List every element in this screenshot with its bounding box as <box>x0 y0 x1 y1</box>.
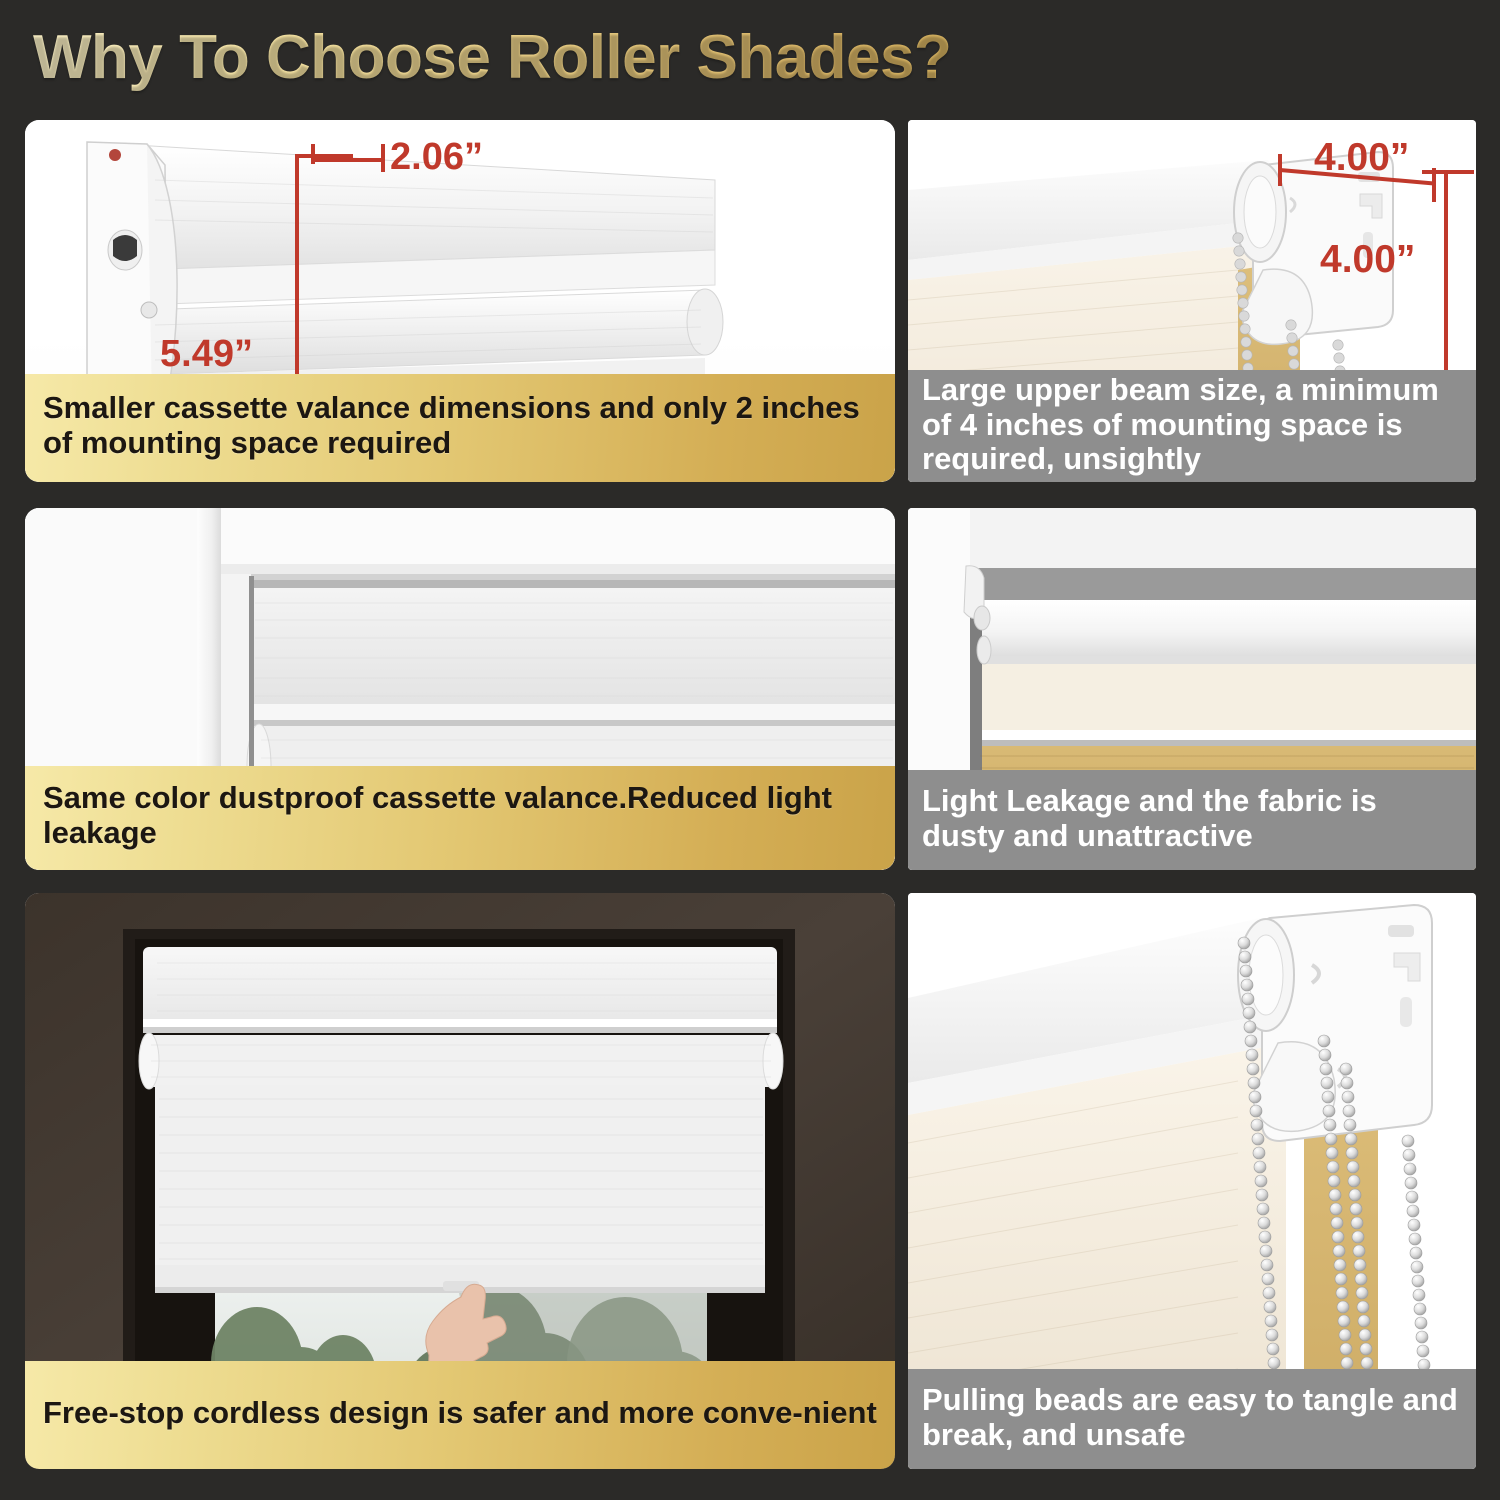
caption-top-right-text: Large upper beam size, a minimum of 4 in… <box>922 373 1462 477</box>
dimension-label-beam-height: 4.00” <box>1320 238 1415 282</box>
caption-middle-left: Same color dustproof cassette valance.Re… <box>25 766 895 870</box>
page-title: Why To Choose Roller Shades? <box>33 22 1133 100</box>
caption-bottom-left-text: Free-stop cordless design is safer and m… <box>43 1396 877 1431</box>
dimension-tick-right <box>381 144 385 172</box>
dimension-tick-beam-left <box>1278 154 1282 186</box>
dimension-line-beam-height <box>1444 170 1448 380</box>
caption-top-right: Large upper beam size, a minimum of 4 in… <box>908 370 1476 482</box>
page-title-text: Why To Choose Roller Shades? <box>33 22 1133 93</box>
caption-bottom-left: Free-stop cordless design is safer and m… <box>25 1361 895 1469</box>
caption-top-left: Smaller cassette valance dimensions and … <box>25 374 895 482</box>
caption-bottom-right: Pulling beads are easy to tangle and bre… <box>908 1369 1476 1469</box>
caption-middle-right: Light Leakage and the fabric is dusty an… <box>908 770 1476 870</box>
panel-middle-left: smaller gap Same color dustproof cassett… <box>25 508 895 870</box>
caption-bottom-right-text: Pulling beads are easy to tangle and bre… <box>922 1383 1462 1452</box>
panel-middle-right: Large gap Light Leakage and the fabric i… <box>908 508 1476 870</box>
caption-middle-right-text: Light Leakage and the fabric is dusty an… <box>922 784 1462 853</box>
caption-middle-left-text: Same color dustproof cassette valance.Re… <box>43 781 877 850</box>
dimension-label-height: 5.49” <box>160 333 253 376</box>
dimension-label-beam-width: 4.00” <box>1314 136 1409 180</box>
dimension-label-width: 2.06” <box>390 136 483 179</box>
dimension-line-width <box>313 158 385 162</box>
dimension-cap-top <box>295 154 353 158</box>
caption-top-left-text: Smaller cassette valance dimensions and … <box>43 391 877 460</box>
panel-top-left: 2.06” 5.49” Smaller cassette valance dim… <box>25 120 895 482</box>
panel-bottom-right: Pulling beads are easy to tangle and bre… <box>908 893 1476 1469</box>
dimension-cap-beam-top <box>1422 170 1474 174</box>
panel-bottom-left: Free-stop cordless design is safer and m… <box>25 893 895 1469</box>
panel-top-right: 4.00” 4.00” Large upper beam size, a min… <box>908 120 1476 482</box>
